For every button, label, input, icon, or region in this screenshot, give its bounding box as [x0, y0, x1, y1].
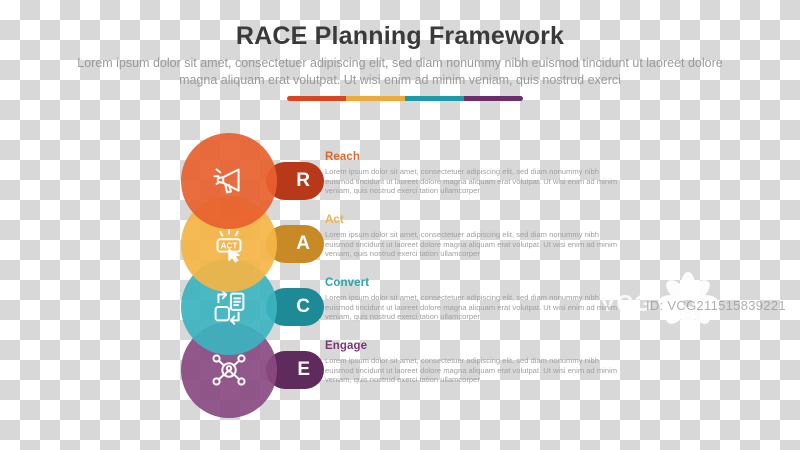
stage-description: Lorem ipsum dolor sit amet, consectetuer… [325, 167, 625, 196]
stage-content: ConvertLorem ipsum dolor sit amet, conse… [325, 277, 625, 322]
stage-description: Lorem ipsum dolor sit amet, consectetuer… [325, 230, 625, 259]
stage-heading: Engage [325, 340, 625, 352]
stage-heading: Act [325, 214, 625, 226]
stage-content: ReachLorem ipsum dolor sit amet, consect… [325, 151, 625, 196]
stage-description: Lorem ipsum dolor sit amet, consectetuer… [325, 356, 625, 385]
stage-badge-letter: A [296, 233, 310, 255]
stage-description: Lorem ipsum dolor sit amet, consectetuer… [325, 293, 625, 322]
stage-circle-reach[interactable] [181, 133, 277, 229]
stage-content: EngageLorem ipsum dolor sit amet, consec… [325, 340, 625, 385]
infographic-canvas: RACE Planning Framework Lorem ipsum dolo… [0, 0, 800, 450]
stage-heading: Convert [325, 277, 625, 289]
stage-badge-letter: C [296, 296, 310, 318]
stage-list: RReachLorem ipsum dolor sit amet, consec… [0, 0, 800, 450]
svg-text:ACT: ACT [221, 241, 238, 250]
stage-heading: Reach [325, 151, 625, 163]
stage-badge-letter: R [296, 170, 310, 192]
megaphone-icon [206, 158, 252, 204]
stage-content: ActLorem ipsum dolor sit amet, consectet… [325, 214, 625, 259]
stage-badge-letter: E [297, 359, 310, 381]
